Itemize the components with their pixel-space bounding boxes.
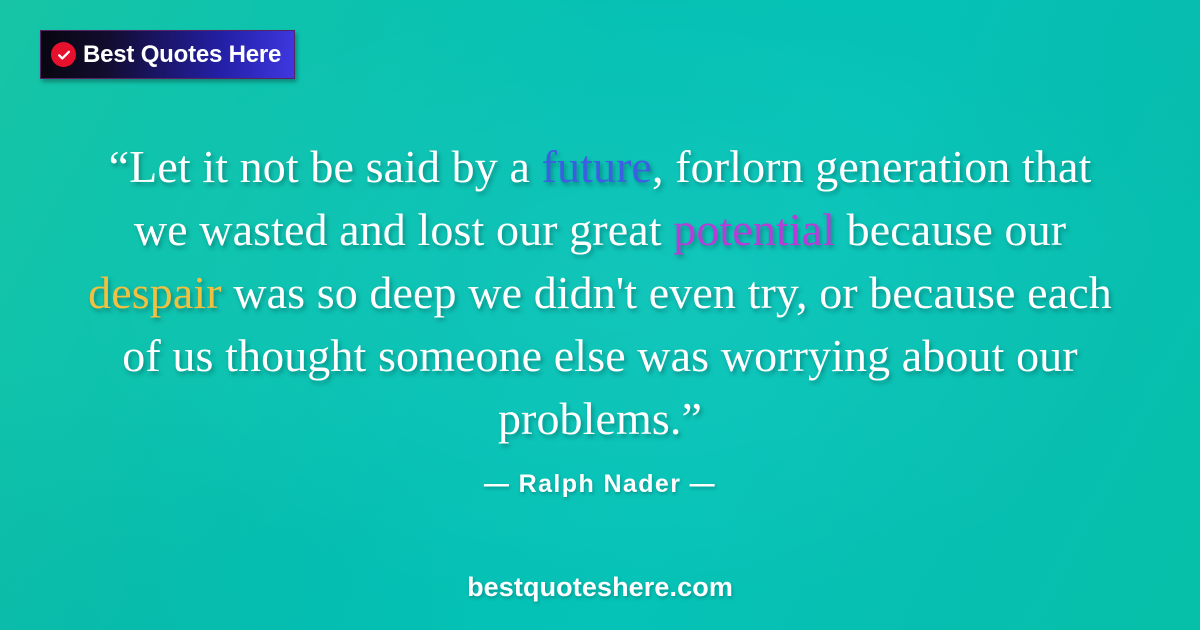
quote-text: “Let it not be said by a future, forlorn… <box>76 135 1124 450</box>
quote-segment-plain-4: because our <box>835 204 1066 255</box>
brand-logo-badge[interactable]: Best Quotes Here <box>40 30 295 79</box>
footer-website-url[interactable]: bestquoteshere.com <box>0 572 1200 603</box>
quote-segment-plain-0: “Let it not be said by a <box>109 141 542 192</box>
quote-segment-highlight-5: despair <box>88 267 222 318</box>
check-circle-icon <box>51 42 76 67</box>
quote-segment-plain-6: was so deep we didn't even try, or becau… <box>122 267 1112 444</box>
quote-segment-highlight-3: potential <box>673 204 835 255</box>
quote-segment-highlight-1: future <box>542 141 652 192</box>
quote-attribution: — Ralph Nader — <box>0 470 1200 499</box>
quote-block: “Let it not be said by a future, forlorn… <box>0 135 1200 450</box>
brand-logo-label: Best Quotes Here <box>83 43 281 67</box>
